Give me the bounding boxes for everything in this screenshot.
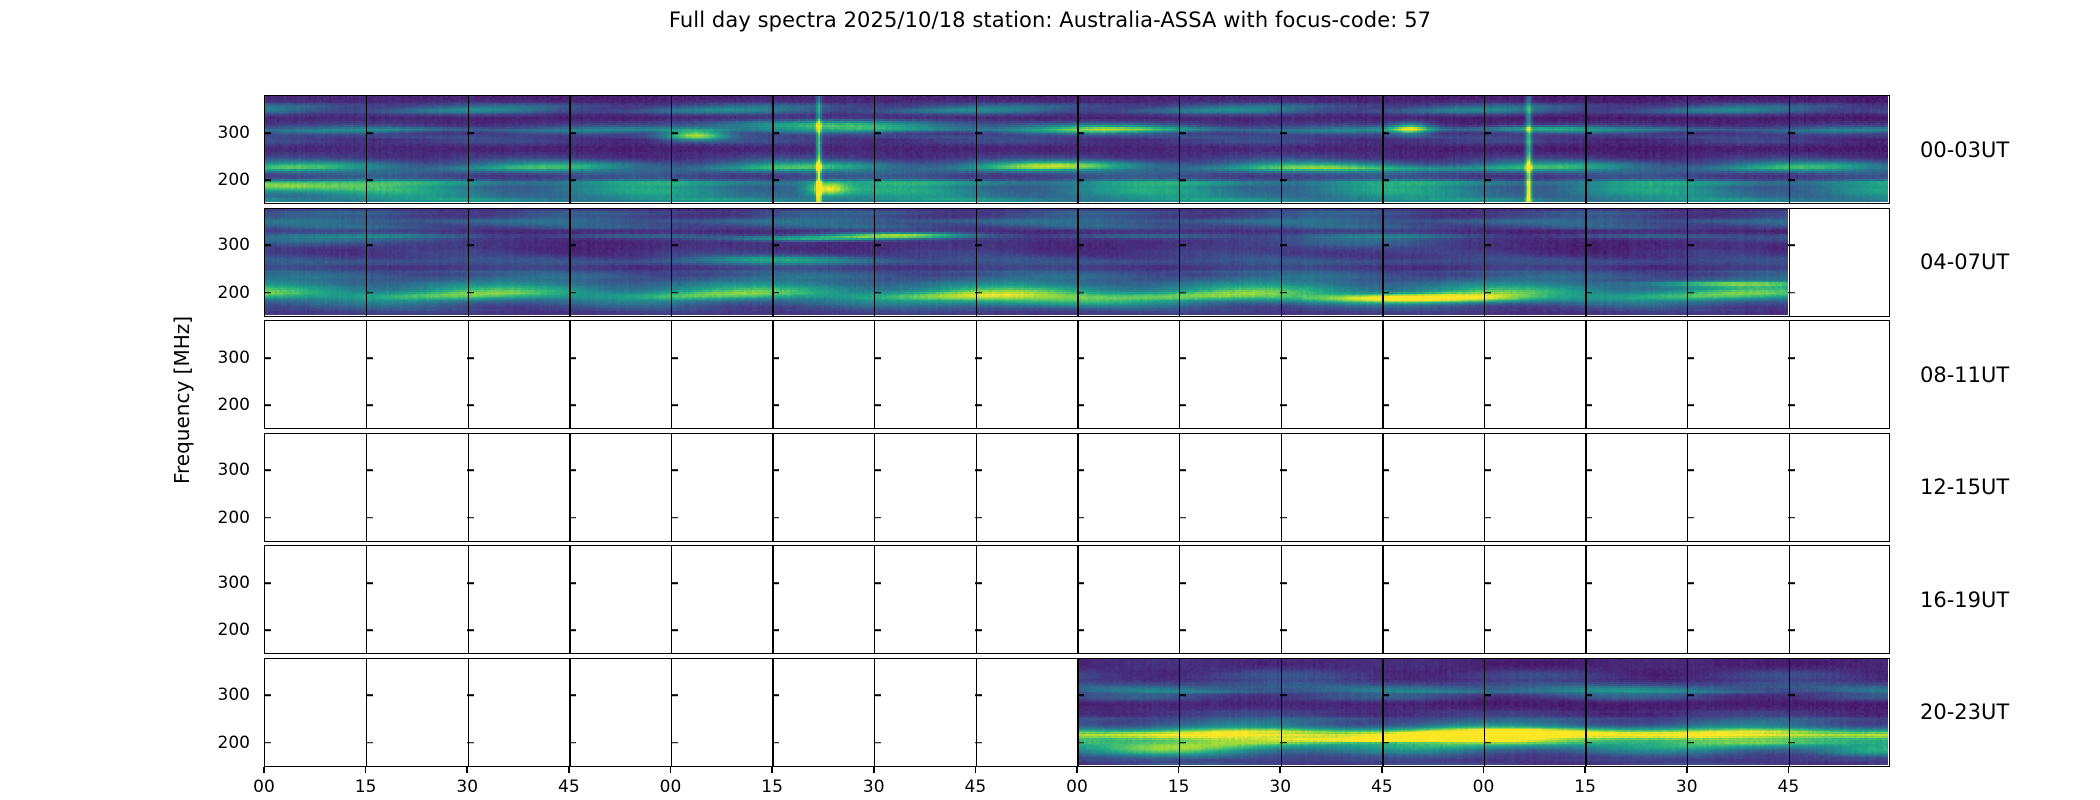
y-tick-mark (1077, 245, 1084, 247)
subpanel-divider (1585, 96, 1586, 203)
x-tick-label: 30 (456, 777, 478, 797)
subpanel-divider (976, 321, 977, 428)
x-tick-mark (263, 767, 265, 773)
subpanel-divider (1585, 209, 1586, 316)
y-tick-mark (1179, 742, 1186, 744)
y-tick-mark (671, 630, 678, 632)
y-tick-mark (1585, 630, 1592, 632)
row-label-16-19ut: 16-19UT (1920, 588, 2009, 612)
y-tick-mark (264, 517, 271, 519)
subpanel-divider (772, 546, 773, 653)
subpanel-divider (671, 96, 672, 203)
y-tick-mark (772, 517, 779, 519)
subpanel-divider (1281, 546, 1282, 653)
y-tick-mark (1280, 470, 1287, 472)
y-tick-mark (975, 357, 982, 359)
x-tick-label: 15 (355, 777, 377, 797)
subpanel-divider (468, 96, 469, 203)
y-tick-mark (975, 742, 982, 744)
x-tick-label: 00 (1066, 777, 1088, 797)
y-tick-mark (467, 695, 474, 697)
y-tick-mark (671, 470, 678, 472)
y-tick-mark (975, 292, 982, 294)
y-tick-label: 200 (194, 283, 250, 303)
subpanel-divider (1077, 321, 1078, 428)
subpanel-divider (976, 209, 977, 316)
subpanel-divider (1687, 546, 1688, 653)
y-tick-mark (264, 695, 271, 697)
y-tick-mark (1382, 695, 1389, 697)
y-tick-mark (1687, 695, 1694, 697)
spectrogram-figure: Full day spectra 2025/10/18 station: Aus… (0, 0, 2100, 800)
y-tick-mark (1382, 630, 1389, 632)
y-tick-mark (467, 405, 474, 407)
y-tick-mark (264, 470, 271, 472)
subpanel-divider (1179, 659, 1180, 766)
y-tick-mark (569, 582, 576, 584)
subpanel-divider (874, 209, 875, 316)
y-tick-mark (1484, 517, 1491, 519)
y-tick-mark (975, 470, 982, 472)
y-tick-mark (366, 405, 373, 407)
y-tick-mark (264, 582, 271, 584)
x-tick-mark (1279, 767, 1281, 773)
subpanel-divider (1179, 434, 1180, 541)
y-tick-mark (1687, 630, 1694, 632)
y-tick-mark (467, 180, 474, 182)
y-axis-label: Frequency [MHz] (170, 316, 194, 484)
subpanel-divider (1789, 321, 1790, 428)
y-tick-mark (874, 357, 881, 359)
x-tick-mark (568, 767, 570, 773)
y-tick-mark (975, 245, 982, 247)
y-tick-mark (1585, 517, 1592, 519)
subpanel-divider (1789, 546, 1790, 653)
y-tick-mark (1484, 695, 1491, 697)
y-tick-mark (772, 405, 779, 407)
subpanel-divider (772, 209, 773, 316)
y-tick-mark (1179, 695, 1186, 697)
y-tick-mark (1280, 582, 1287, 584)
y-tick-mark (1585, 470, 1592, 472)
y-tick-mark (1687, 292, 1694, 294)
y-tick-mark (569, 742, 576, 744)
row-label-00-03ut: 00-03UT (1920, 138, 2009, 162)
y-tick-mark (1788, 180, 1795, 182)
y-tick-mark (1484, 292, 1491, 294)
y-tick-mark (366, 245, 373, 247)
subpanel-divider (366, 659, 367, 766)
subpanel-divider (976, 96, 977, 203)
x-tick-label: 45 (1778, 777, 1800, 797)
x-tick-label: 45 (965, 777, 987, 797)
y-tick-label: 200 (194, 508, 250, 528)
y-tick-mark (1484, 180, 1491, 182)
subpanel-divider (1789, 434, 1790, 541)
y-tick-mark (671, 582, 678, 584)
y-tick-mark (1280, 357, 1287, 359)
y-tick-mark (569, 630, 576, 632)
x-tick-mark (365, 767, 367, 773)
x-tick-label: 30 (1676, 777, 1698, 797)
subpanel-divider (569, 546, 570, 653)
y-tick-mark (1077, 470, 1084, 472)
y-tick-mark (264, 630, 271, 632)
subpanel-divider (468, 659, 469, 766)
y-tick-mark (366, 582, 373, 584)
y-tick-mark (1077, 357, 1084, 359)
y-tick-mark (569, 132, 576, 134)
subpanel-divider (1484, 546, 1485, 653)
y-tick-mark (671, 292, 678, 294)
y-tick-mark (467, 630, 474, 632)
y-tick-mark (975, 517, 982, 519)
y-tick-mark (1382, 582, 1389, 584)
subpanel-divider (1687, 659, 1688, 766)
page-title: Full day spectra 2025/10/18 station: Aus… (0, 8, 2100, 32)
y-tick-mark (366, 132, 373, 134)
x-tick-mark (873, 767, 875, 773)
y-tick-mark (1280, 630, 1287, 632)
spectrogram-row-08-11ut: 300200 (264, 320, 1890, 429)
subpanel-divider (976, 546, 977, 653)
subpanel-divider (366, 321, 367, 428)
y-tick-mark (1788, 470, 1795, 472)
subpanel-divider (1382, 659, 1383, 766)
subpanel-divider (1077, 209, 1078, 316)
y-tick-mark (1687, 582, 1694, 584)
subpanel-divider (772, 96, 773, 203)
y-tick-mark (1585, 132, 1592, 134)
subpanel-divider (1077, 546, 1078, 653)
y-tick-mark (467, 517, 474, 519)
y-tick-mark (975, 180, 982, 182)
x-tick-label: 00 (253, 777, 275, 797)
subpanel-divider (1585, 546, 1586, 653)
y-tick-mark (1687, 132, 1694, 134)
row-axes (264, 545, 1890, 654)
y-tick-mark (366, 517, 373, 519)
y-tick-mark (874, 582, 881, 584)
y-tick-mark (569, 695, 576, 697)
y-tick-mark (1382, 292, 1389, 294)
y-tick-label: 300 (194, 460, 250, 480)
x-tick-mark (1076, 767, 1078, 773)
y-tick-mark (1788, 132, 1795, 134)
y-tick-mark (1382, 132, 1389, 134)
y-tick-mark (264, 742, 271, 744)
y-tick-mark (1687, 357, 1694, 359)
y-tick-mark (772, 470, 779, 472)
y-tick-mark (1179, 630, 1186, 632)
y-tick-mark (772, 582, 779, 584)
y-tick-mark (264, 405, 271, 407)
y-tick-mark (772, 695, 779, 697)
subpanel-divider (1281, 434, 1282, 541)
x-tick-mark (1178, 767, 1180, 773)
subpanel-divider (1789, 96, 1790, 203)
subpanel-divider (874, 434, 875, 541)
y-tick-mark (1585, 292, 1592, 294)
y-tick-mark (467, 742, 474, 744)
subpanel-divider (1484, 434, 1485, 541)
y-tick-mark (366, 630, 373, 632)
y-tick-mark (1484, 357, 1491, 359)
y-tick-mark (467, 357, 474, 359)
y-tick-mark (1687, 742, 1694, 744)
subpanel-divider (772, 321, 773, 428)
y-tick-mark (874, 245, 881, 247)
row-label-04-07ut: 04-07UT (1920, 250, 2009, 274)
y-tick-mark (671, 245, 678, 247)
subpanel-divider (1382, 209, 1383, 316)
y-tick-mark (264, 357, 271, 359)
subpanel-divider (1382, 546, 1383, 653)
subpanel-divider (772, 434, 773, 541)
y-tick-mark (1280, 695, 1287, 697)
y-tick-mark (264, 245, 271, 247)
subpanel-divider (1281, 321, 1282, 428)
spectrogram-row-04-07ut: 300200 (264, 208, 1890, 317)
subpanel-divider (1687, 434, 1688, 541)
y-tick-label: 300 (194, 235, 250, 255)
y-tick-mark (569, 292, 576, 294)
y-tick-mark (874, 695, 881, 697)
row-axes (264, 208, 1890, 317)
x-tick-mark (1788, 767, 1790, 773)
subpanel-divider (366, 434, 367, 541)
y-tick-mark (1788, 245, 1795, 247)
y-tick-mark (1179, 180, 1186, 182)
y-tick-mark (671, 742, 678, 744)
x-tick-mark (771, 767, 773, 773)
x-tick-label: 15 (1168, 777, 1190, 797)
y-tick-mark (1585, 742, 1592, 744)
spectrogram-row-20-23ut: 300200 (264, 658, 1890, 767)
y-tick-mark (1179, 292, 1186, 294)
y-tick-mark (1788, 742, 1795, 744)
subpanel-divider (1585, 321, 1586, 428)
x-tick-label: 00 (1473, 777, 1495, 797)
x-tick-label: 15 (761, 777, 783, 797)
y-tick-mark (1179, 132, 1186, 134)
y-tick-label: 300 (194, 685, 250, 705)
row-label-20-23ut: 20-23UT (1920, 700, 2009, 724)
y-tick-mark (1788, 292, 1795, 294)
y-tick-mark (366, 292, 373, 294)
y-tick-mark (467, 292, 474, 294)
y-tick-mark (1484, 742, 1491, 744)
y-tick-mark (1484, 132, 1491, 134)
y-tick-mark (1382, 517, 1389, 519)
y-tick-mark (975, 405, 982, 407)
x-tick-label: 15 (1574, 777, 1596, 797)
subpanel-divider (1281, 659, 1282, 766)
y-tick-mark (772, 245, 779, 247)
subpanel-divider (671, 546, 672, 653)
subpanel-divider (671, 434, 672, 541)
y-tick-mark (1280, 245, 1287, 247)
y-tick-mark (1280, 517, 1287, 519)
y-tick-mark (874, 470, 881, 472)
y-tick-mark (1382, 470, 1389, 472)
y-tick-mark (569, 245, 576, 247)
subpanel-divider (874, 546, 875, 653)
subpanel-divider (468, 434, 469, 541)
x-tick-label: 45 (1371, 777, 1393, 797)
y-tick-mark (772, 357, 779, 359)
y-tick-mark (1382, 357, 1389, 359)
row-axes (264, 433, 1890, 542)
subpanel-divider (1484, 96, 1485, 203)
y-tick-mark (1077, 292, 1084, 294)
subpanel-divider (1179, 209, 1180, 316)
subpanel-divider (1281, 96, 1282, 203)
y-tick-label: 300 (194, 348, 250, 368)
y-tick-mark (1585, 180, 1592, 182)
y-tick-mark (569, 517, 576, 519)
row-axes (264, 658, 1890, 767)
y-tick-mark (1585, 357, 1592, 359)
y-tick-mark (1585, 582, 1592, 584)
y-tick-mark (671, 517, 678, 519)
y-tick-mark (1077, 695, 1084, 697)
y-tick-mark (874, 180, 881, 182)
subpanel-divider (1179, 321, 1180, 428)
x-tick-mark (1483, 767, 1485, 773)
y-tick-mark (772, 742, 779, 744)
subpanel-divider (569, 209, 570, 316)
subpanel-divider (1179, 546, 1180, 653)
y-tick-mark (366, 742, 373, 744)
subpanel-divider (1077, 659, 1078, 766)
y-tick-mark (467, 582, 474, 584)
subpanel-divider (468, 209, 469, 316)
y-tick-mark (671, 695, 678, 697)
y-tick-mark (1077, 630, 1084, 632)
subpanel-divider (976, 434, 977, 541)
y-tick-label: 200 (194, 170, 250, 190)
y-tick-mark (1280, 132, 1287, 134)
row-label-08-11ut: 08-11UT (1920, 363, 2009, 387)
subpanel-divider (772, 659, 773, 766)
y-tick-mark (1077, 132, 1084, 134)
y-tick-mark (1179, 582, 1186, 584)
y-tick-mark (1077, 405, 1084, 407)
x-tick-mark (1381, 767, 1383, 773)
subpanel-divider (569, 321, 570, 428)
subpanel-divider (671, 209, 672, 316)
y-tick-mark (569, 357, 576, 359)
y-tick-mark (1788, 517, 1795, 519)
subpanel-divider (1281, 209, 1282, 316)
y-tick-mark (874, 132, 881, 134)
row-axes (264, 320, 1890, 429)
y-tick-mark (264, 180, 271, 182)
y-tick-mark (1687, 180, 1694, 182)
y-tick-mark (1280, 292, 1287, 294)
y-tick-mark (264, 292, 271, 294)
y-tick-mark (1788, 695, 1795, 697)
x-tick-mark (975, 767, 977, 773)
y-tick-mark (1179, 245, 1186, 247)
x-tick-label: 30 (863, 777, 885, 797)
y-tick-mark (772, 292, 779, 294)
x-tick-mark (670, 767, 672, 773)
y-tick-mark (1179, 470, 1186, 472)
y-tick-label: 200 (194, 395, 250, 415)
y-tick-mark (1077, 582, 1084, 584)
y-tick-mark (1788, 582, 1795, 584)
subpanel-divider (1789, 659, 1790, 766)
y-tick-mark (569, 405, 576, 407)
y-tick-mark (975, 630, 982, 632)
y-tick-mark (1077, 517, 1084, 519)
y-tick-mark (1484, 245, 1491, 247)
subpanel-divider (569, 659, 570, 766)
y-tick-mark (975, 582, 982, 584)
subpanel-divider (1687, 209, 1688, 316)
y-tick-mark (366, 357, 373, 359)
y-tick-mark (874, 517, 881, 519)
subpanel-divider (366, 546, 367, 653)
subpanel-divider (569, 434, 570, 541)
y-tick-mark (569, 470, 576, 472)
spectrogram-row-16-19ut: 300200 (264, 545, 1890, 654)
y-tick-mark (1382, 245, 1389, 247)
x-tick-label: 00 (660, 777, 682, 797)
y-tick-mark (772, 630, 779, 632)
y-tick-mark (1585, 245, 1592, 247)
row-axes (264, 95, 1890, 204)
subpanel-divider (1687, 321, 1688, 428)
x-tick-label: 45 (558, 777, 580, 797)
y-tick-mark (1280, 742, 1287, 744)
subpanel-divider (671, 659, 672, 766)
subpanel-divider (874, 659, 875, 766)
y-tick-label: 200 (194, 733, 250, 753)
y-tick-mark (1382, 742, 1389, 744)
subpanel-divider (976, 659, 977, 766)
y-tick-mark (1382, 405, 1389, 407)
subpanel-divider (366, 96, 367, 203)
y-tick-mark (1382, 180, 1389, 182)
y-tick-label: 300 (194, 573, 250, 593)
y-tick-mark (1585, 695, 1592, 697)
y-tick-mark (772, 132, 779, 134)
y-tick-mark (1788, 357, 1795, 359)
y-tick-mark (569, 180, 576, 182)
spectrogram-row-00-03ut: 300200 (264, 95, 1890, 204)
subpanel-divider (468, 546, 469, 653)
y-tick-mark (1077, 180, 1084, 182)
subpanel-divider (1484, 209, 1485, 316)
subpanel-divider (1382, 434, 1383, 541)
y-tick-mark (1179, 517, 1186, 519)
y-tick-mark (1484, 470, 1491, 472)
y-tick-mark (671, 405, 678, 407)
subpanel-divider (1585, 659, 1586, 766)
subpanel-divider (366, 209, 367, 316)
subpanel-divider (569, 96, 570, 203)
y-tick-mark (1585, 405, 1592, 407)
subpanel-divider (1687, 96, 1688, 203)
subpanel-divider (1484, 659, 1485, 766)
subpanel-divider (1585, 434, 1586, 541)
x-tick-mark (1584, 767, 1586, 773)
y-tick-mark (1179, 405, 1186, 407)
y-tick-mark (366, 180, 373, 182)
